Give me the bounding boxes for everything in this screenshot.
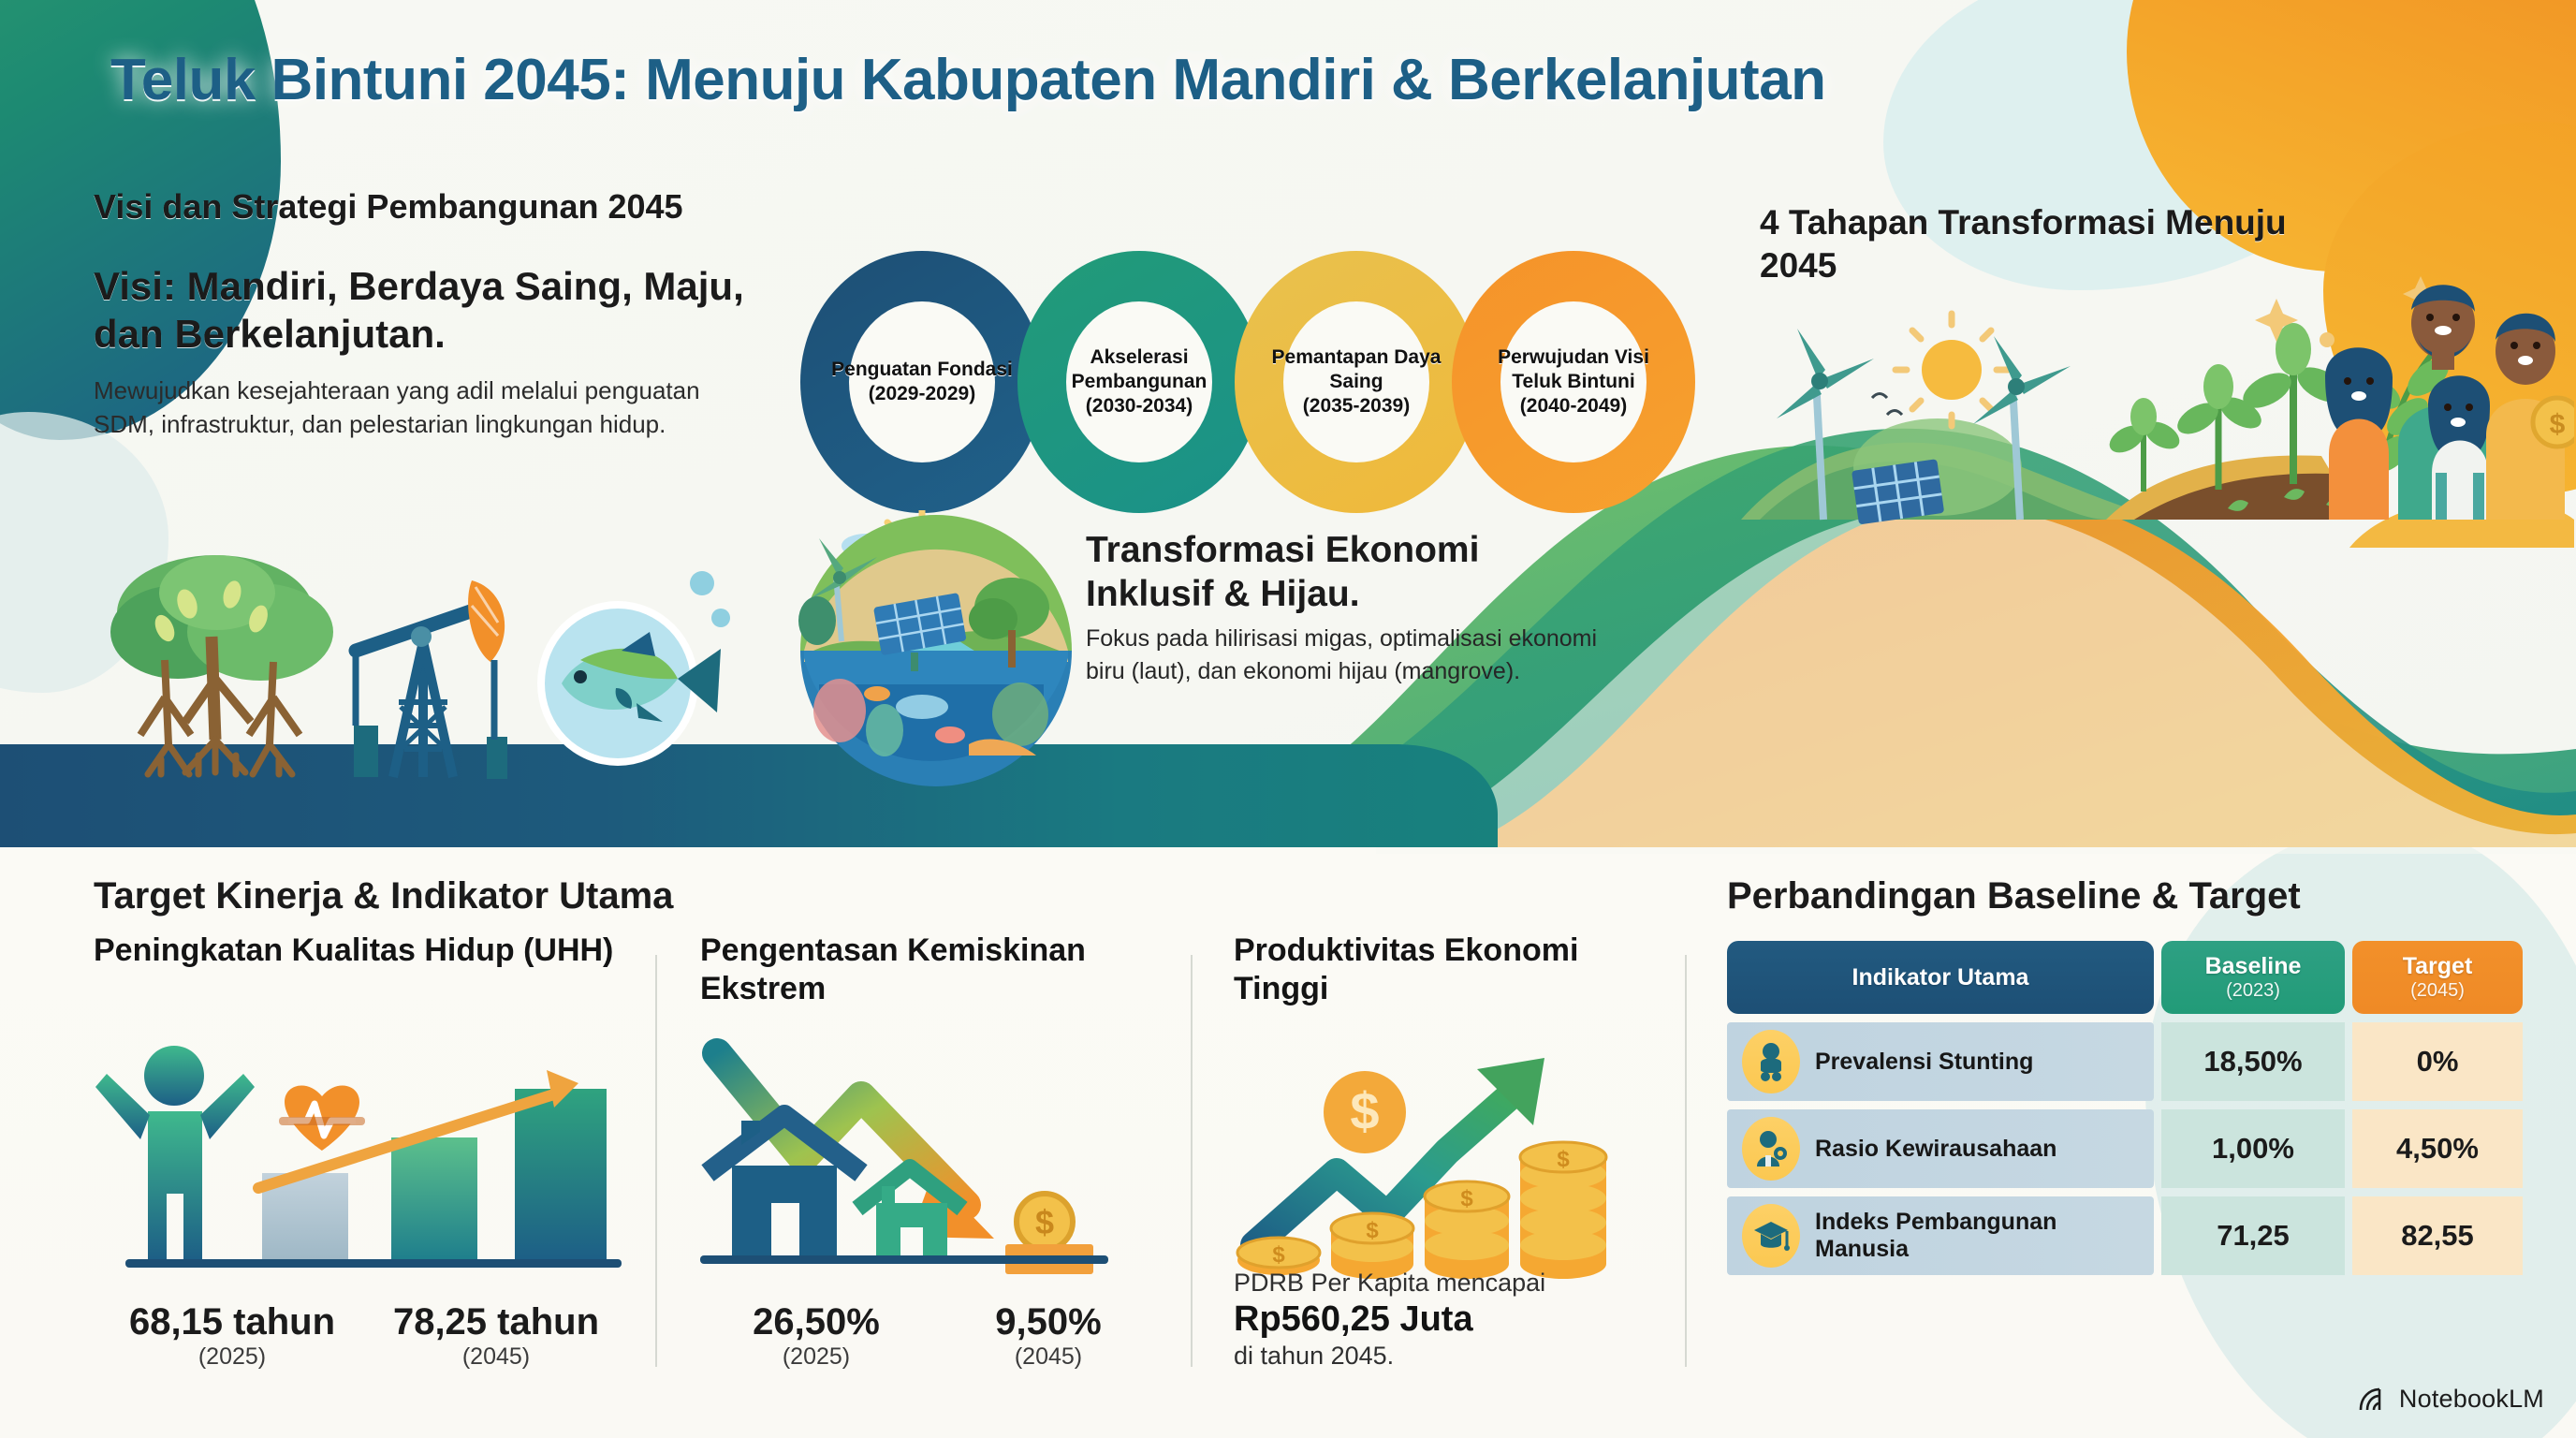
green-community-illustration: $ bbox=[1704, 239, 2574, 548]
table-cell-target: 4,50% bbox=[2352, 1109, 2523, 1188]
watermark-label: NotebookLM bbox=[2399, 1385, 2544, 1414]
section-heading-perbandingan: Perbandingan Baseline & Target bbox=[1727, 875, 2301, 917]
phase-ring-1[interactable]: Penguatan Fondasi (2029-2029) bbox=[800, 251, 1044, 513]
phase-4-years: (2040-2049) bbox=[1520, 395, 1627, 417]
table-header-indicator: Indikator Utama bbox=[1727, 941, 2154, 1014]
table-cell-indicator: Indeks Pembangunan Manusia bbox=[1727, 1196, 2154, 1275]
table-cell-target: 82,55 bbox=[2352, 1196, 2523, 1275]
eco-globe-illustration bbox=[791, 510, 1081, 800]
transformation-phase-rings: Penguatan Fondasi (2029-2029) Akselerasi… bbox=[800, 251, 1699, 513]
table-row: Prevalensi Stunting 18,50% 0% bbox=[1727, 1022, 2523, 1101]
phase-1-years: (2029-2029) bbox=[869, 383, 975, 404]
svg-text:$: $ bbox=[2550, 409, 2566, 440]
table-header-target: Target (2045) bbox=[2352, 941, 2523, 1014]
uhh-target-value: 78,25 tahun bbox=[374, 1301, 618, 1343]
uhh-target-year: (2045) bbox=[374, 1343, 618, 1371]
panel-divider-1 bbox=[655, 955, 657, 1367]
table-cell-baseline: 1,00% bbox=[2161, 1109, 2345, 1188]
table-cell-indicator: Rasio Kewirausahaan bbox=[1727, 1109, 2154, 1188]
phase-ring-2[interactable]: Akselerasi Pembangunan (2030-2034) bbox=[1017, 251, 1261, 513]
uhh-baseline-value: 68,15 tahun bbox=[110, 1301, 354, 1343]
transformasi-description: Fokus pada hilirisasi migas, optimalisas… bbox=[1086, 623, 1638, 687]
visi-description: Mewujudkan kesejahteraan yang adil melal… bbox=[94, 374, 711, 442]
svg-text:$: $ bbox=[1557, 1147, 1570, 1172]
baseline-target-table: Indikator Utama Baseline (2023) Target (… bbox=[1727, 941, 2523, 1275]
poverty-target-value: 9,50% bbox=[936, 1301, 1161, 1343]
pdrb-note-line1: PDRB Per Kapita mencapai bbox=[1234, 1269, 1674, 1298]
phase-ring-3[interactable]: Pemantapan Daya Saing (2035-2039) bbox=[1235, 251, 1478, 513]
section-heading-visi-strategi: Visi dan Strategi Pembangunan 2045 bbox=[94, 187, 683, 227]
poverty-baseline-label: 26,50% (2025) bbox=[704, 1301, 929, 1371]
metric-1-title: Peningkatan Kualitas Hidup (UHH) bbox=[94, 932, 637, 970]
baby-icon bbox=[1742, 1030, 1800, 1093]
section-heading-target: Target Kinerja & Indikator Utama bbox=[94, 875, 673, 917]
table-header-baseline: Baseline (2023) bbox=[2161, 941, 2345, 1014]
phase-3-years: (2035-2039) bbox=[1303, 395, 1410, 417]
metric-panel-kemiskinan: Pengentasan Kemiskinan Ekstrem bbox=[700, 932, 1168, 1008]
poverty-baseline-year: (2025) bbox=[704, 1343, 929, 1371]
pdrb-note: PDRB Per Kapita mencapai Rp560,25 Juta d… bbox=[1234, 1269, 1674, 1371]
phase-1-name: Penguatan Fondasi bbox=[831, 359, 1013, 380]
svg-text:$: $ bbox=[1350, 1081, 1379, 1140]
poverty-baseline-value: 26,50% bbox=[704, 1301, 929, 1343]
phase-3-name: Pemantapan Daya Saing bbox=[1272, 346, 1442, 392]
svg-text:$: $ bbox=[1035, 1203, 1054, 1241]
metric-2-title: Pengentasan Kemiskinan Ekstrem bbox=[700, 932, 1168, 1008]
metric-3-title: Produktivitas Ekonomi Tinggi bbox=[1234, 932, 1674, 1008]
oil-pumpjack-icon bbox=[354, 580, 507, 779]
uhh-baseline-year: (2025) bbox=[110, 1343, 354, 1371]
pdrb-value: Rp560,25 Juta bbox=[1234, 1299, 1674, 1340]
infographic-canvas: Teluk Bintuni 2045: Menuju Kabupaten Man… bbox=[0, 0, 2576, 1438]
graduation-icon bbox=[1742, 1204, 1800, 1268]
indicator-name: Prevalensi Stunting bbox=[1815, 1049, 2033, 1076]
economic-growth-chart: $ $ $ $ $ bbox=[1226, 1020, 1694, 1292]
notebooklm-logo-icon bbox=[2359, 1387, 2389, 1412]
table-header-row: Indikator Utama Baseline (2023) Target (… bbox=[1727, 941, 2523, 1014]
poverty-reduction-chart: $ bbox=[693, 1034, 1179, 1306]
page-title: Teluk Bintuni 2045: Menuju Kabupaten Man… bbox=[110, 47, 2357, 113]
metric-panel-uhh: Peningkatan Kualitas Hidup (UHH) bbox=[94, 932, 637, 970]
table-row: Indeks Pembangunan Manusia 71,25 82,55 bbox=[1727, 1196, 2523, 1275]
notebooklm-watermark: NotebookLM bbox=[2359, 1385, 2544, 1414]
metric-panel-produktivitas: Produktivitas Ekonomi Tinggi bbox=[1234, 932, 1674, 1008]
uhh-baseline-label: 68,15 tahun (2025) bbox=[110, 1301, 354, 1371]
svg-text:$: $ bbox=[1272, 1242, 1285, 1268]
poverty-target-label: 9,50% (2045) bbox=[936, 1301, 1161, 1371]
table-cell-indicator: Prevalensi Stunting bbox=[1727, 1022, 2154, 1101]
uhh-bar-chart bbox=[92, 1025, 653, 1306]
worker-icon bbox=[1742, 1117, 1800, 1181]
panel-divider-2 bbox=[1191, 955, 1193, 1367]
phase-2-years: (2030-2034) bbox=[1086, 395, 1193, 417]
mangrove-oilrig-fish-illustration bbox=[75, 538, 730, 847]
section-heading-transformasi: Transformasi Ekonomi Inklusif & Hijau. bbox=[1086, 529, 1610, 617]
table-cell-target: 0% bbox=[2352, 1022, 2523, 1101]
pdrb-note-line2: di tahun 2045. bbox=[1234, 1342, 1674, 1371]
table-cell-baseline: 71,25 bbox=[2161, 1196, 2345, 1275]
poverty-target-year: (2045) bbox=[936, 1343, 1161, 1371]
fish-icon bbox=[537, 571, 730, 766]
phase-ring-4[interactable]: Perwujudan Visi Teluk Bintuni (2040-2049… bbox=[1452, 251, 1695, 513]
visi-statement: Visi: Mandiri, Berdaya Saing, Maju, dan … bbox=[94, 262, 749, 358]
uhh-target-label: 78,25 tahun (2045) bbox=[374, 1301, 618, 1371]
phase-4-name: Perwujudan Visi Teluk Bintuni bbox=[1498, 346, 1649, 392]
indicator-name: Indeks Pembangunan Manusia bbox=[1815, 1209, 2154, 1263]
indicator-name: Rasio Kewirausahaan bbox=[1815, 1136, 2056, 1163]
table-cell-baseline: 18,50% bbox=[2161, 1022, 2345, 1101]
table-row: Rasio Kewirausahaan 1,00% 4,50% bbox=[1727, 1109, 2523, 1188]
svg-text:$: $ bbox=[1366, 1218, 1379, 1243]
phase-2-name: Akselerasi Pembangunan bbox=[1072, 346, 1207, 392]
svg-text:$: $ bbox=[1460, 1186, 1473, 1211]
